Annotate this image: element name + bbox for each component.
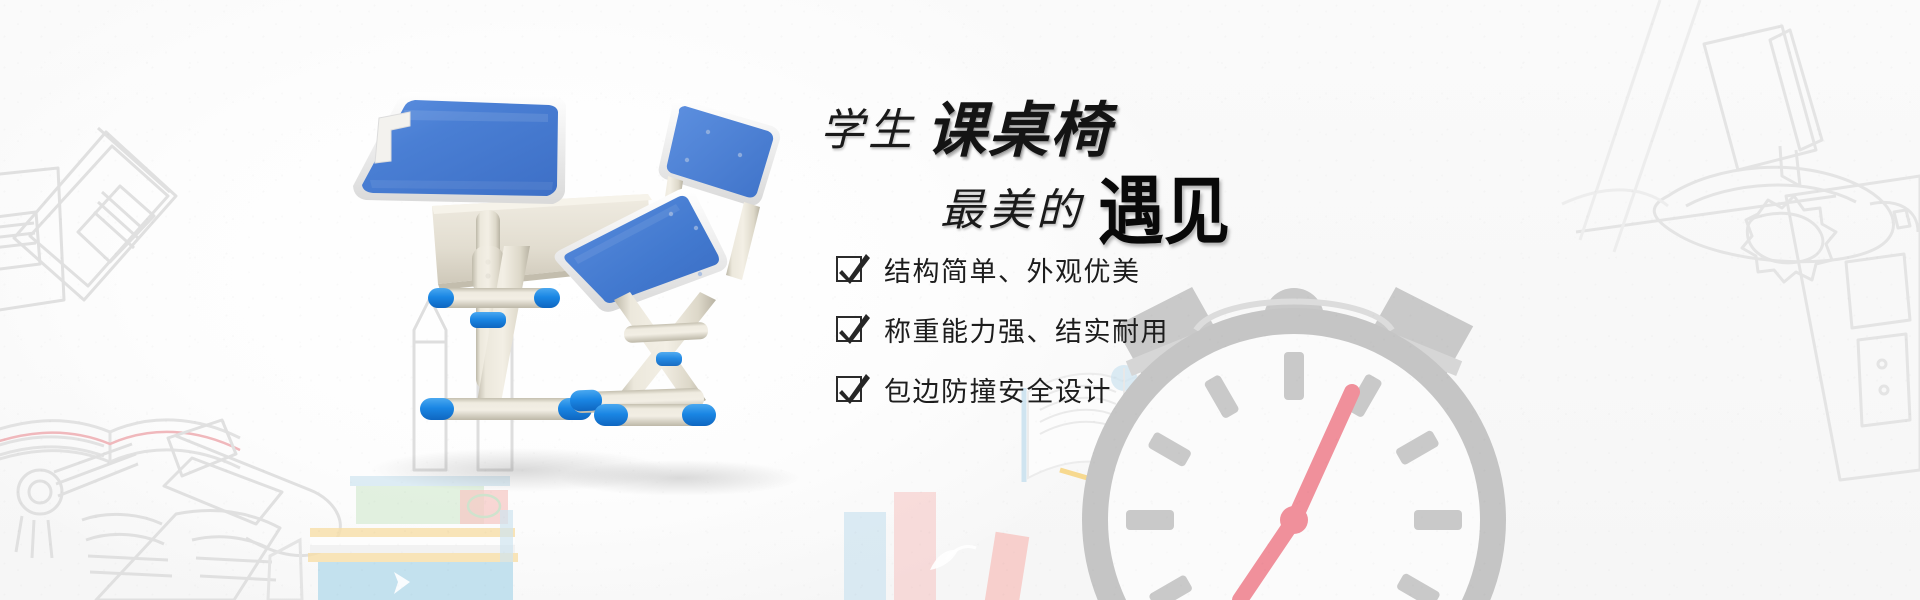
checkbox-checked-icon (836, 376, 862, 402)
feature-label: 包边防撞安全设计 (884, 370, 1112, 409)
headline-block: 学生课桌椅 最美的遇见 (820, 96, 1520, 258)
feature-label: 结构简单、外观优美 (884, 250, 1141, 289)
copy-layer: 学生课桌椅 最美的遇见 结构简单、外观优美 (0, 0, 1920, 600)
promo-banner: 学生课桌椅 最美的遇见 结构简单、外观优美 (0, 0, 1920, 600)
feature-item: 结构简单、外观优美 (836, 248, 1169, 290)
checkbox-checked-icon (836, 316, 862, 342)
headline-line-1: 学生课桌椅 (820, 96, 1520, 174)
headline-line1-bold: 课桌椅 (926, 98, 1112, 164)
headline-line2-light: 最美的 (940, 186, 1084, 235)
feature-list: 结构简单、外观优美 称重能力强、结实耐用 包边防撞安全设计 (836, 248, 1169, 428)
feature-item: 包边防撞安全设计 (836, 368, 1169, 410)
headline-line2-bold: 遇见 (1098, 167, 1230, 254)
feature-label: 称重能力强、结实耐用 (884, 310, 1169, 349)
checkbox-checked-icon (836, 256, 862, 282)
headline-line-2: 最美的遇见 (820, 172, 1520, 258)
headline-line1-light: 学生 (820, 106, 916, 155)
feature-item: 称重能力强、结实耐用 (836, 308, 1169, 350)
